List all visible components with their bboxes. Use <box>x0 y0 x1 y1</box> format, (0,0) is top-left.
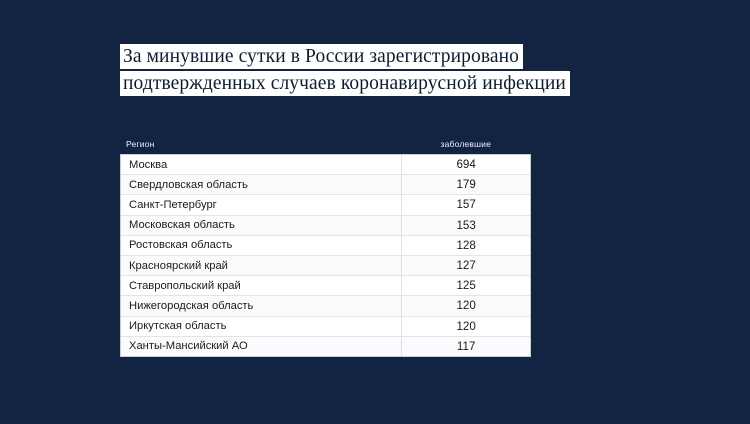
table-row: Иркутская область 120 <box>121 317 530 337</box>
table-row: Ростовская область 128 <box>121 236 530 256</box>
cell-region: Москва <box>121 155 402 174</box>
table-row: Московская область 153 <box>121 216 530 236</box>
cell-region: Красноярский край <box>121 256 402 275</box>
table-row: Санкт-Петербург 157 <box>121 195 530 215</box>
cell-cases: 157 <box>402 195 530 214</box>
cell-cases: 179 <box>402 175 530 194</box>
table-row: Свердловская область 179 <box>121 175 530 195</box>
cell-cases: 120 <box>402 296 530 315</box>
table-row: Ставропольский край 125 <box>121 276 530 296</box>
title-line-1: За минувшие сутки в России зарегистриров… <box>120 44 523 69</box>
cell-region: Иркутская область <box>121 317 402 336</box>
table-row: Москва 694 <box>121 155 530 175</box>
cell-cases: 125 <box>402 276 530 295</box>
title-line-2: подтвержденных случаев коронавирусной ин… <box>120 71 570 96</box>
cell-region: Нижегородская область <box>121 296 402 315</box>
cell-region: Ростовская область <box>121 236 402 255</box>
cell-cases: 128 <box>402 236 530 255</box>
table-body: Москва 694 Свердловская область 179 Санк… <box>120 154 531 357</box>
covid-cases-table: Регион заболевшие Москва 694 Свердловска… <box>120 134 531 357</box>
slide-root: За минувшие сутки в России зарегистриров… <box>0 0 750 424</box>
cell-region: Свердловская область <box>121 175 402 194</box>
column-header-region: Регион <box>120 139 403 149</box>
column-header-cases: заболевшие <box>403 139 531 149</box>
cell-cases: 117 <box>402 337 530 356</box>
cell-cases: 127 <box>402 256 530 275</box>
cell-cases: 153 <box>402 216 530 235</box>
table-row: Нижегородская область 120 <box>121 296 530 316</box>
cell-region: Московская область <box>121 216 402 235</box>
table-header-row: Регион заболевшие <box>120 134 531 154</box>
cell-cases: 120 <box>402 317 530 336</box>
cell-region: Санкт-Петербург <box>121 195 402 214</box>
table-row: Ханты-Мансийский АО 117 <box>121 337 530 356</box>
cell-region: Ханты-Мансийский АО <box>121 337 402 356</box>
table-row: Красноярский край 127 <box>121 256 530 276</box>
page-title: За минувшие сутки в России зарегистриров… <box>120 44 570 96</box>
cell-region: Ставропольский край <box>121 276 402 295</box>
cell-cases: 694 <box>402 155 530 174</box>
